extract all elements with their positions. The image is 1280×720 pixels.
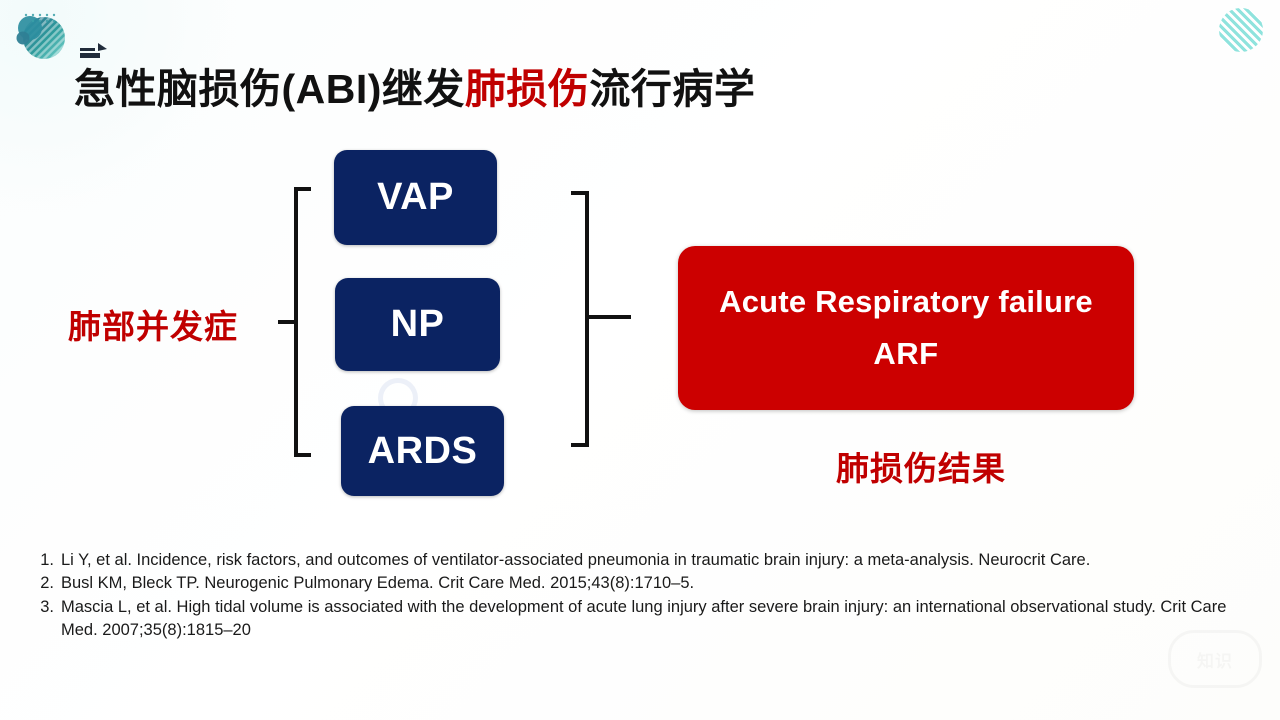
right-bracket-icon — [570, 190, 632, 448]
left-bracket-icon — [278, 186, 312, 458]
reference-list: 1. Li Y, et al. Incidence, risk factors,… — [36, 549, 1252, 643]
complication-box-ards-label: ARDS — [368, 430, 478, 473]
reference-number: 3. — [36, 596, 54, 619]
complication-box-vap-label: VAP — [377, 176, 454, 219]
arrow-mark-icon — [78, 42, 108, 60]
title-segment-1: 急性脑损伤(ABI)继发 — [74, 66, 465, 112]
outcome-box-line1: Acute Respiratory failure — [719, 284, 1093, 320]
title-segment-3: 流行病学 — [589, 66, 755, 112]
outcome-box-line2: ARF — [873, 336, 938, 372]
reference-number: 2. — [36, 572, 54, 595]
striped-circle-icon — [1219, 8, 1263, 52]
reference-text: Mascia L, et al. High tidal volume is as… — [61, 596, 1252, 643]
complication-box-ards[interactable]: ARDS — [341, 406, 504, 496]
title-segment-highlight: 肺损伤 — [465, 66, 590, 112]
right-category-label: 肺损伤结果 — [836, 442, 1006, 490]
outcome-box-arf[interactable]: Acute Respiratory failure ARF — [678, 246, 1134, 410]
list-item: 2. Busl KM, Bleck TP. Neurogenic Pulmona… — [36, 572, 1252, 595]
slide-canvas: 急性脑损伤(ABI)继发肺损伤流行病学 肺部并发症 VAP NP ARDS Ac… — [0, 0, 1280, 720]
reference-number: 1. — [36, 549, 54, 572]
list-item: 3. Mascia L, et al. High tidal volume is… — [36, 596, 1252, 643]
complication-box-np[interactable]: NP — [335, 278, 500, 371]
page-title: 急性脑损伤(ABI)继发肺损伤流行病学 — [74, 65, 755, 114]
reference-text: Busl KM, Bleck TP. Neurogenic Pulmonary … — [61, 572, 1252, 595]
complication-box-np-label: NP — [391, 303, 445, 346]
decorative-blob-icon — [10, 6, 72, 64]
complication-box-vap[interactable]: VAP — [334, 150, 497, 245]
reference-text: Li Y, et al. Incidence, risk factors, an… — [61, 549, 1252, 572]
list-item: 1. Li Y, et al. Incidence, risk factors,… — [36, 549, 1252, 572]
left-category-label: 肺部并发症 — [68, 300, 238, 348]
